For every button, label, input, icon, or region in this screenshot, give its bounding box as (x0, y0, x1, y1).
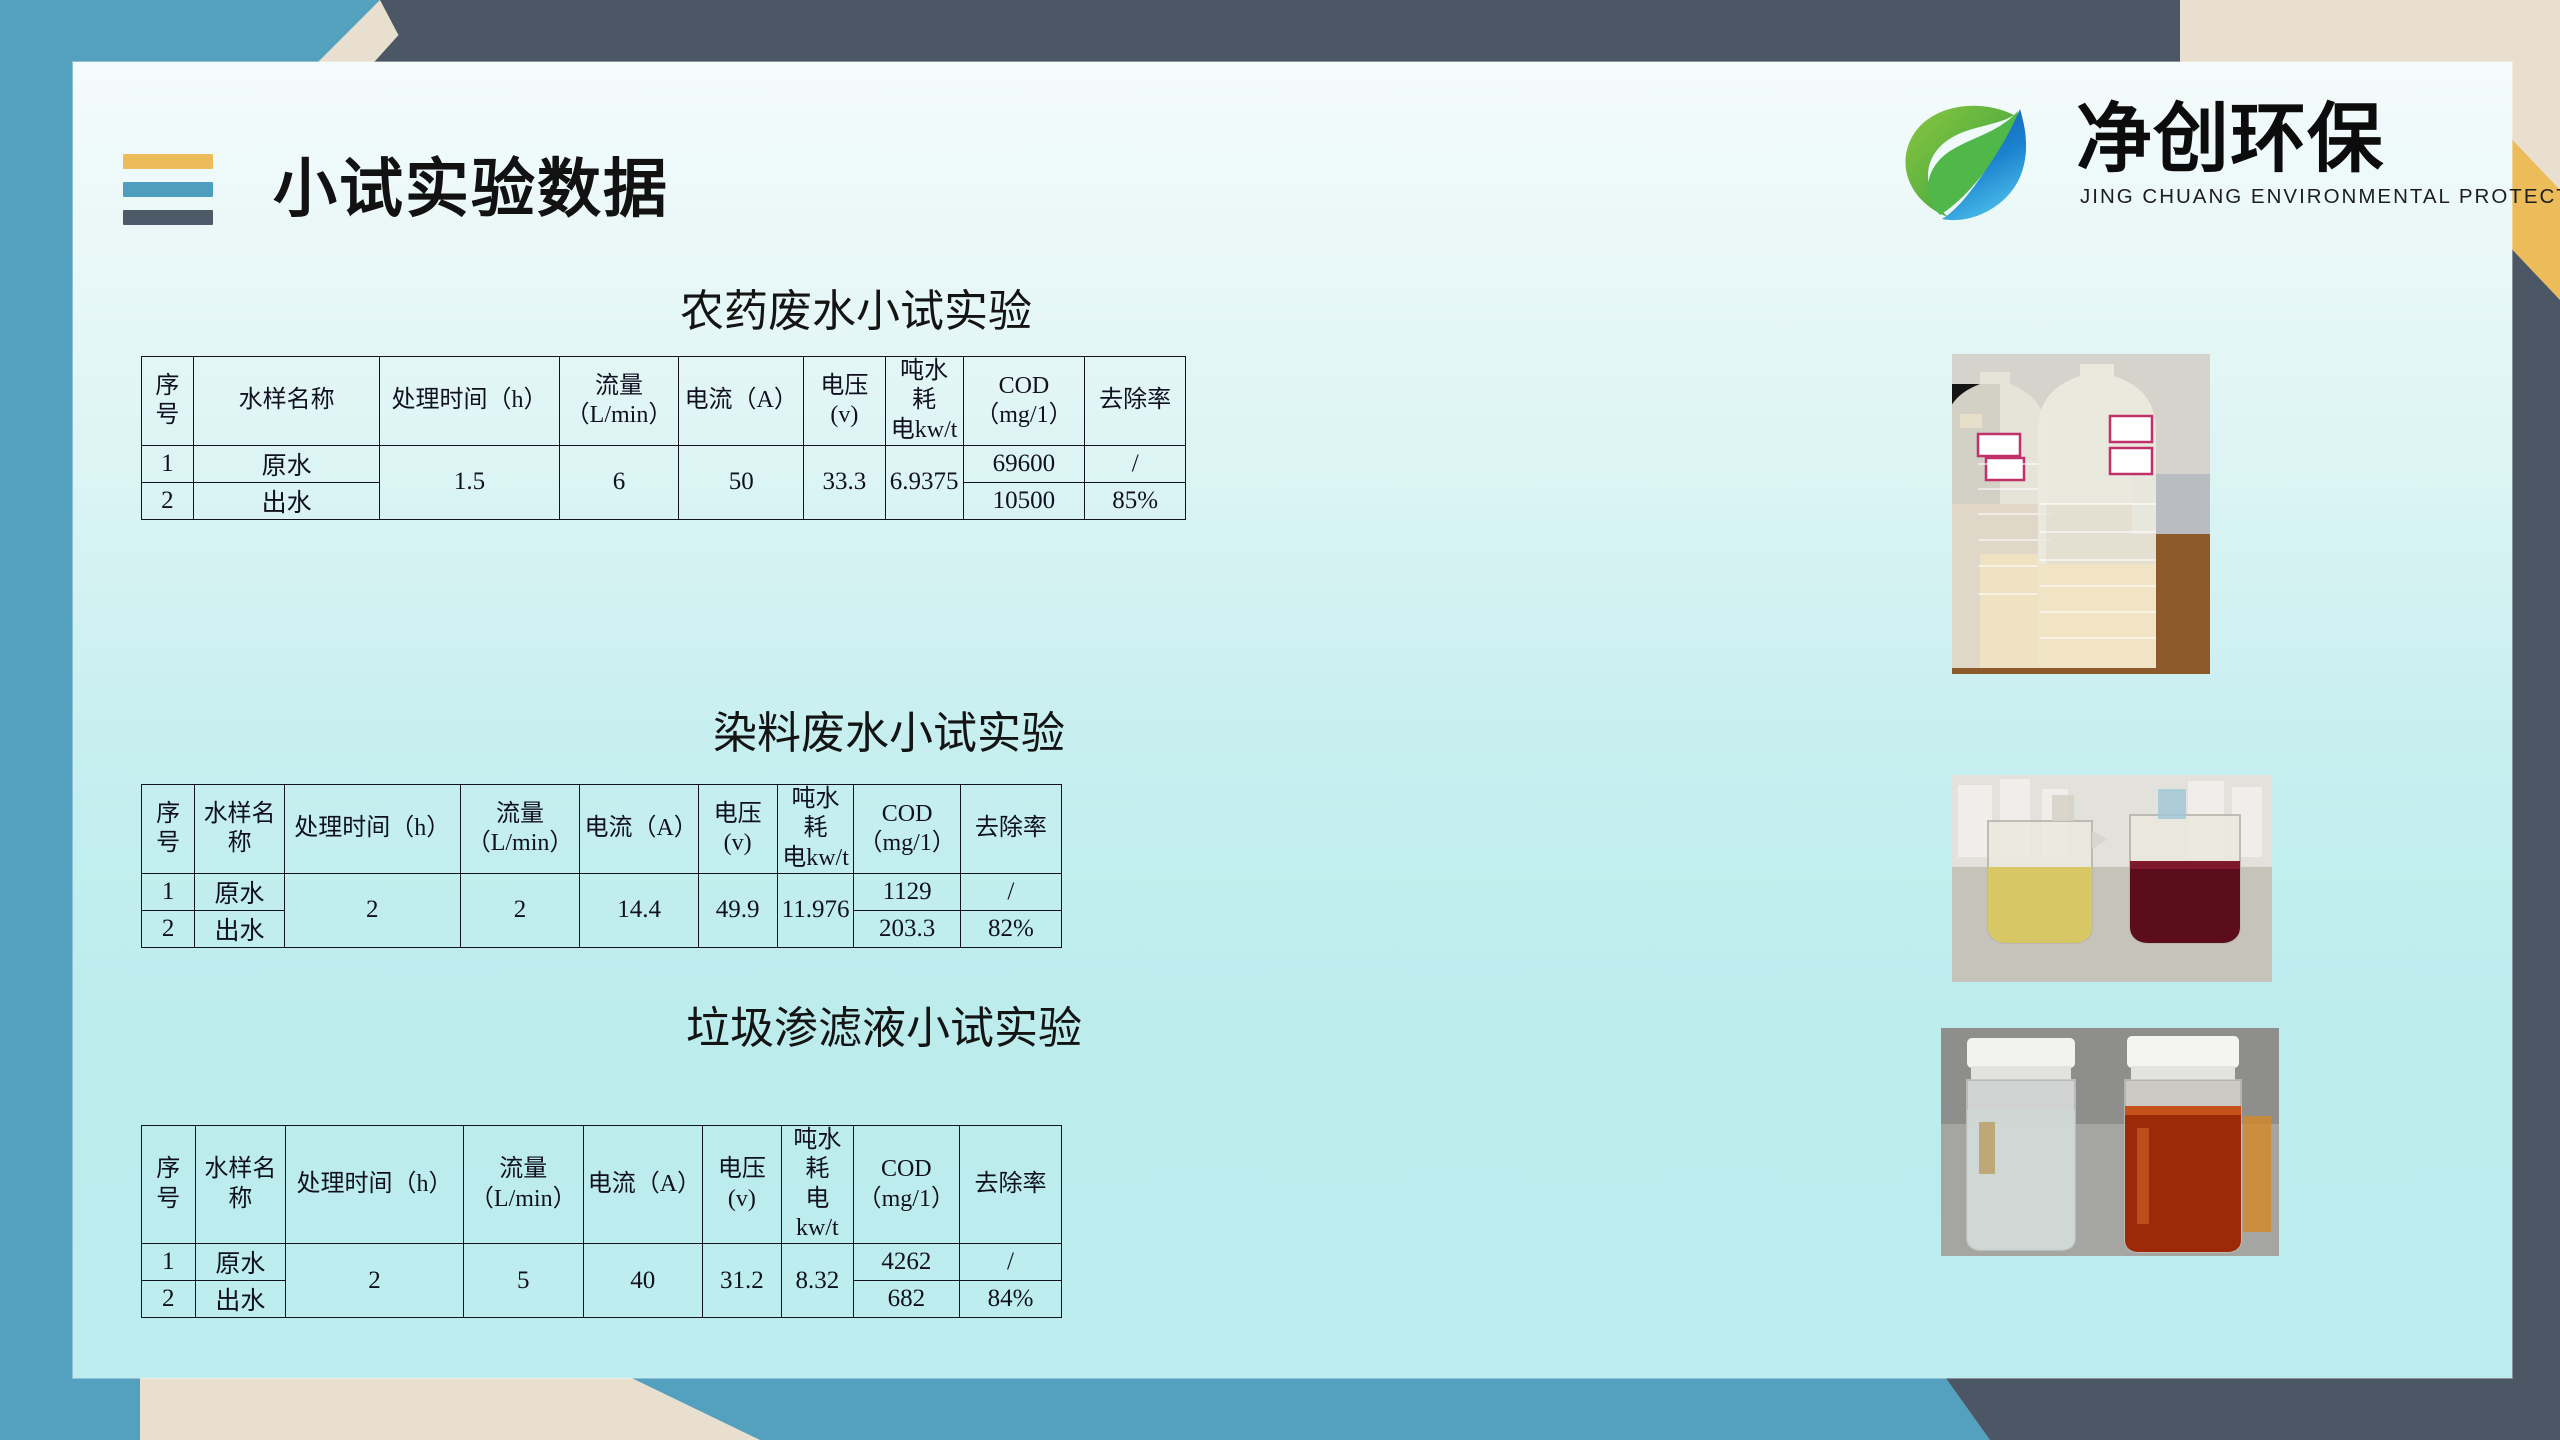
cell-removal: / (1085, 445, 1186, 482)
col-removal: 去除率 (960, 785, 1061, 874)
col-cod: COD（mg/1） (853, 1126, 959, 1244)
col-time: 处理时间（h） (286, 1126, 464, 1244)
table-header-row: 序号 水样名称 处理时间（h） 流量（L/min） 电流（A） 电压(v) 吨水… (142, 785, 1062, 874)
accent-bar-gold (123, 154, 213, 169)
col-power-line1: 吨水耗 (792, 786, 840, 841)
cell-cod: 682 (853, 1281, 959, 1318)
cell-sample: 原水 (195, 873, 285, 910)
col-no: 序号 (142, 785, 195, 874)
col-power: 吨水耗 电kw/t (885, 357, 963, 446)
table-header-row: 序号 水样名称 处理时间（h） 流量（L/min） 电流（A） 电压(v) 吨水… (142, 357, 1186, 446)
cell-power: 11.976 (777, 873, 854, 947)
cell-sample: 出水 (193, 482, 380, 519)
col-time: 处理时间（h） (284, 785, 460, 874)
cell-cod: 69600 (963, 445, 1085, 482)
cell-time: 1.5 (380, 445, 559, 519)
logo-name-en: JING CHUANG ENVIRONMENTAL PROTECTION (2080, 185, 2560, 209)
cell-current: 50 (679, 445, 804, 519)
cell-cod: 1129 (854, 873, 960, 910)
cell-sample: 原水 (195, 1244, 286, 1281)
cell-voltage: 49.9 (698, 873, 777, 947)
cell-power: 8.32 (782, 1244, 854, 1318)
cell-time: 2 (284, 873, 460, 947)
table-row: 1 原水 1.5 6 50 33.3 6.9375 69600 / (142, 445, 1186, 482)
col-cod: COD（mg/1） (963, 357, 1085, 446)
cell-voltage: 33.3 (804, 445, 886, 519)
accent-bar-blue (123, 182, 213, 197)
col-power-line2: 电kw/t (782, 845, 849, 871)
col-flow: 流量（L/min） (463, 1126, 583, 1244)
cell-no: 2 (142, 1281, 196, 1318)
col-removal: 去除率 (959, 1126, 1061, 1244)
col-current: 电流（A） (583, 1126, 702, 1244)
col-voltage: 电压(v) (702, 1126, 781, 1244)
cell-removal: / (960, 873, 1061, 910)
cell-sample: 原水 (193, 445, 380, 482)
col-power-line2: 电kw/t (796, 1186, 839, 1241)
leaf-swoosh-icon (1892, 85, 2072, 225)
cell-current: 40 (583, 1244, 702, 1318)
company-logo: 净创环保 JING CHUANG ENVIRONMENTAL PROTECTIO… (1892, 80, 2482, 230)
cell-no: 1 (142, 873, 195, 910)
col-no: 序号 (142, 1126, 196, 1244)
col-removal: 去除率 (1085, 357, 1186, 446)
cell-no: 1 (142, 1244, 196, 1281)
title-accent-bars (123, 154, 213, 225)
cell-flow: 6 (559, 445, 679, 519)
table-row: 1 原水 2 2 14.4 49.9 11.976 1129 / (142, 873, 1062, 910)
logo-name-cn: 净创环保 (2076, 101, 2560, 177)
cell-removal: 82% (960, 910, 1061, 947)
col-cod: COD（mg/1） (854, 785, 960, 874)
section-heading-1: 农药废水小试实验 (680, 290, 1032, 334)
logo-text: 净创环保 JING CHUANG ENVIRONMENTAL PROTECTIO… (2076, 101, 2560, 209)
col-power-line1: 吨水耗 (793, 1127, 841, 1182)
table-header-row: 序号 水样名称 处理时间（h） 流量（L/min） 电流（A） 电压(v) 吨水… (142, 1126, 1062, 1244)
table-dye: 序号 水样名称 处理时间（h） 流量（L/min） 电流（A） 电压(v) 吨水… (141, 784, 1062, 948)
photo-leachate-sample-jars (1941, 1028, 2279, 1256)
cell-cod: 10500 (963, 482, 1085, 519)
cell-current: 14.4 (580, 873, 698, 947)
photo-dye-wastewater-beakers (1952, 775, 2272, 982)
col-flow: 流量（L/min） (460, 785, 580, 874)
cell-time: 2 (286, 1244, 464, 1318)
cell-removal: 85% (1085, 482, 1186, 519)
col-current: 电流（A） (679, 357, 804, 446)
cell-cod: 4262 (853, 1244, 959, 1281)
cell-flow: 5 (463, 1244, 583, 1318)
cell-power: 6.9375 (885, 445, 963, 519)
cell-no: 2 (142, 910, 195, 947)
photo-pesticide-wastewater-bottles (1952, 354, 2210, 674)
col-sample: 水样名称 (193, 357, 380, 446)
cell-removal: 84% (959, 1281, 1061, 1318)
slide-card: 小试实验数据 净创环保 JING CHUANG ENVIRONMENTAL PR… (73, 62, 2512, 1378)
col-voltage: 电压(v) (804, 357, 886, 446)
section-heading-2: 染料废水小试实验 (713, 712, 1065, 756)
col-voltage: 电压(v) (698, 785, 777, 874)
cell-no: 1 (142, 445, 194, 482)
cell-sample: 出水 (195, 910, 285, 947)
cell-sample: 出水 (195, 1281, 286, 1318)
col-time: 处理时间（h） (380, 357, 559, 446)
col-flow: 流量（L/min） (559, 357, 679, 446)
cell-voltage: 31.2 (702, 1244, 781, 1318)
col-sample: 水样名称 (195, 785, 285, 874)
col-power: 吨水耗 电kw/t (782, 1126, 854, 1244)
col-sample: 水样名称 (195, 1126, 286, 1244)
cell-cod: 203.3 (854, 910, 960, 947)
table-pesticide: 序号 水样名称 处理时间（h） 流量（L/min） 电流（A） 电压(v) 吨水… (141, 356, 1186, 520)
cell-removal: / (959, 1244, 1061, 1281)
col-power-line1: 吨水耗 (900, 358, 948, 413)
table-leachate: 序号 水样名称 处理时间（h） 流量（L/min） 电流（A） 电压(v) 吨水… (141, 1125, 1062, 1318)
table-row: 1 原水 2 5 40 31.2 8.32 4262 / (142, 1244, 1062, 1281)
section-heading-3: 垃圾渗滤液小试实验 (686, 1007, 1082, 1051)
page-title: 小试实验数据 (273, 158, 669, 222)
col-power: 吨水耗 电kw/t (777, 785, 854, 874)
page-title-row: 小试实验数据 (123, 154, 669, 225)
cell-no: 2 (142, 482, 194, 519)
col-power-line2: 电kw/t (891, 417, 958, 443)
accent-bar-slate (123, 210, 213, 225)
col-current: 电流（A） (580, 785, 698, 874)
col-no: 序号 (142, 357, 194, 446)
cell-flow: 2 (460, 873, 580, 947)
